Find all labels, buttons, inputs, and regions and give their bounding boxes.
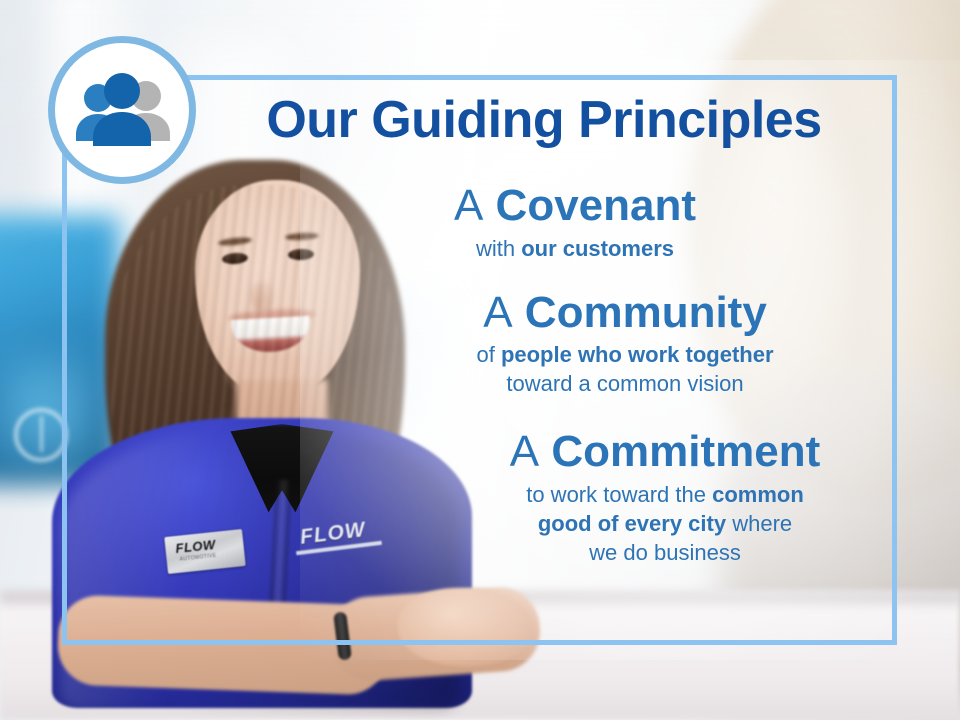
principle-heading: A Covenant bbox=[300, 182, 850, 230]
subtext-run: to work toward the bbox=[526, 482, 712, 507]
principle-subtext: of people who work together toward a com… bbox=[370, 340, 880, 398]
principle-article: A bbox=[454, 181, 483, 230]
principle-subtext-line: of people who work together bbox=[370, 340, 880, 369]
principle-heading: A Commitment bbox=[450, 428, 880, 476]
principles-list: A Covenant with our customers A Communit… bbox=[300, 182, 880, 581]
page-title: Our Guiding Principles bbox=[214, 94, 874, 146]
principle-community: A Community of people who work together … bbox=[300, 289, 880, 399]
people-badge bbox=[48, 36, 196, 184]
principle-article: A bbox=[483, 288, 512, 337]
principle-subtext: to work toward the common good of every … bbox=[450, 480, 880, 567]
principle-subtext-line: with our customers bbox=[300, 234, 850, 263]
principle-commitment: A Commitment to work toward the common g… bbox=[300, 428, 880, 567]
subtext-run: with bbox=[476, 236, 521, 261]
subtext-run-bold: people who work together bbox=[501, 342, 774, 367]
principle-article: A bbox=[510, 427, 539, 476]
principle-subtext-line: we do business bbox=[450, 538, 880, 567]
subtext-run: toward a common vision bbox=[506, 371, 743, 396]
principle-subtext: with our customers bbox=[300, 234, 850, 263]
principle-subtext-line: to work toward the common bbox=[450, 480, 880, 509]
principle-keyword: Covenant bbox=[496, 181, 696, 230]
subtext-run-bold: good of every city bbox=[538, 511, 726, 536]
subtext-run: we do business bbox=[589, 540, 741, 565]
subtext-run-bold: common bbox=[712, 482, 804, 507]
principle-heading: A Community bbox=[370, 289, 880, 337]
subtext-run-bold: our customers bbox=[521, 236, 674, 261]
subtext-run: of bbox=[476, 342, 500, 367]
principle-subtext-line: toward a common vision bbox=[370, 369, 880, 398]
vw-roundel-icon bbox=[14, 408, 68, 462]
guiding-principles-graphic: FLOW AUTOMOTIVE FLOW bbox=[0, 0, 960, 720]
principle-keyword: Community bbox=[525, 288, 767, 337]
principle-keyword: Commitment bbox=[551, 427, 820, 476]
subtext-run: where bbox=[726, 511, 792, 536]
principle-covenant: A Covenant with our customers bbox=[300, 182, 880, 263]
principle-subtext-line: good of every city where bbox=[450, 509, 880, 538]
group-of-people-icon bbox=[70, 73, 174, 147]
